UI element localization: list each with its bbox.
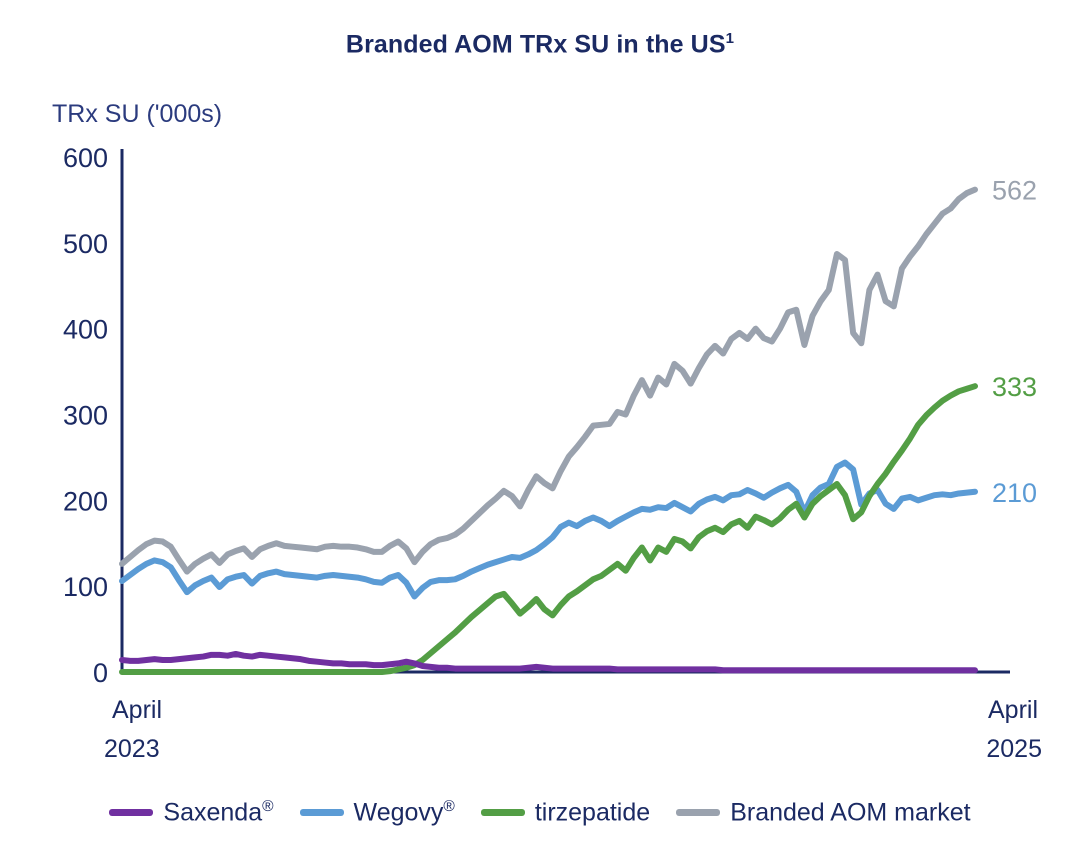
- x-tick-label-end-line1: April: [988, 696, 1038, 724]
- x-tick-label-start-line2: 2023: [104, 735, 160, 763]
- y-tick-label: 500: [63, 229, 108, 259]
- y-tick-label: 600: [63, 143, 108, 173]
- x-tick-label-start-line1: April: [112, 696, 162, 724]
- chart-plot-area: 0100200300400500600210333562April2023Apr…: [0, 0, 1080, 800]
- legend-swatch-branded-aom-market: [676, 809, 720, 816]
- y-tick-label: 400: [63, 315, 108, 345]
- y-tick-label: 0: [93, 658, 108, 688]
- legend-item-wegovy[interactable]: Wegovy®: [300, 798, 455, 827]
- legend-swatch-tirzepatide: [481, 809, 525, 816]
- x-tick-label-end-line2: 2025: [986, 735, 1042, 763]
- legend-item-branded-aom-market[interactable]: Branded AOM market: [676, 798, 970, 827]
- series-end-label-branded-aom-market: 562: [992, 176, 1037, 206]
- legend-label-tirzepatide: tirzepatide: [535, 798, 650, 827]
- series-end-label-tirzepatide: 333: [992, 372, 1037, 402]
- legend-label-saxenda: Saxenda®: [163, 798, 273, 827]
- legend-item-saxenda[interactable]: Saxenda®: [109, 798, 273, 827]
- chart-legend: Saxenda® Wegovy® tirzepatide Branded AOM…: [0, 798, 1080, 827]
- series-line-branded-aom-market: [122, 190, 975, 572]
- legend-item-tirzepatide[interactable]: tirzepatide: [481, 798, 650, 827]
- chart-container: Branded AOM TRx SU in the US1 TRx SU ('0…: [0, 0, 1080, 867]
- series-line-saxenda: [122, 654, 975, 670]
- legend-swatch-saxenda: [109, 809, 153, 816]
- series-end-label-wegovy: 210: [992, 478, 1037, 508]
- legend-label-branded-aom-market: Branded AOM market: [730, 798, 970, 827]
- series-line-tirzepatide: [122, 386, 975, 672]
- y-tick-label: 200: [63, 486, 108, 516]
- y-tick-label: 300: [63, 401, 108, 431]
- y-tick-label: 100: [63, 572, 108, 602]
- legend-label-wegovy: Wegovy®: [354, 798, 455, 827]
- legend-swatch-wegovy: [300, 809, 344, 816]
